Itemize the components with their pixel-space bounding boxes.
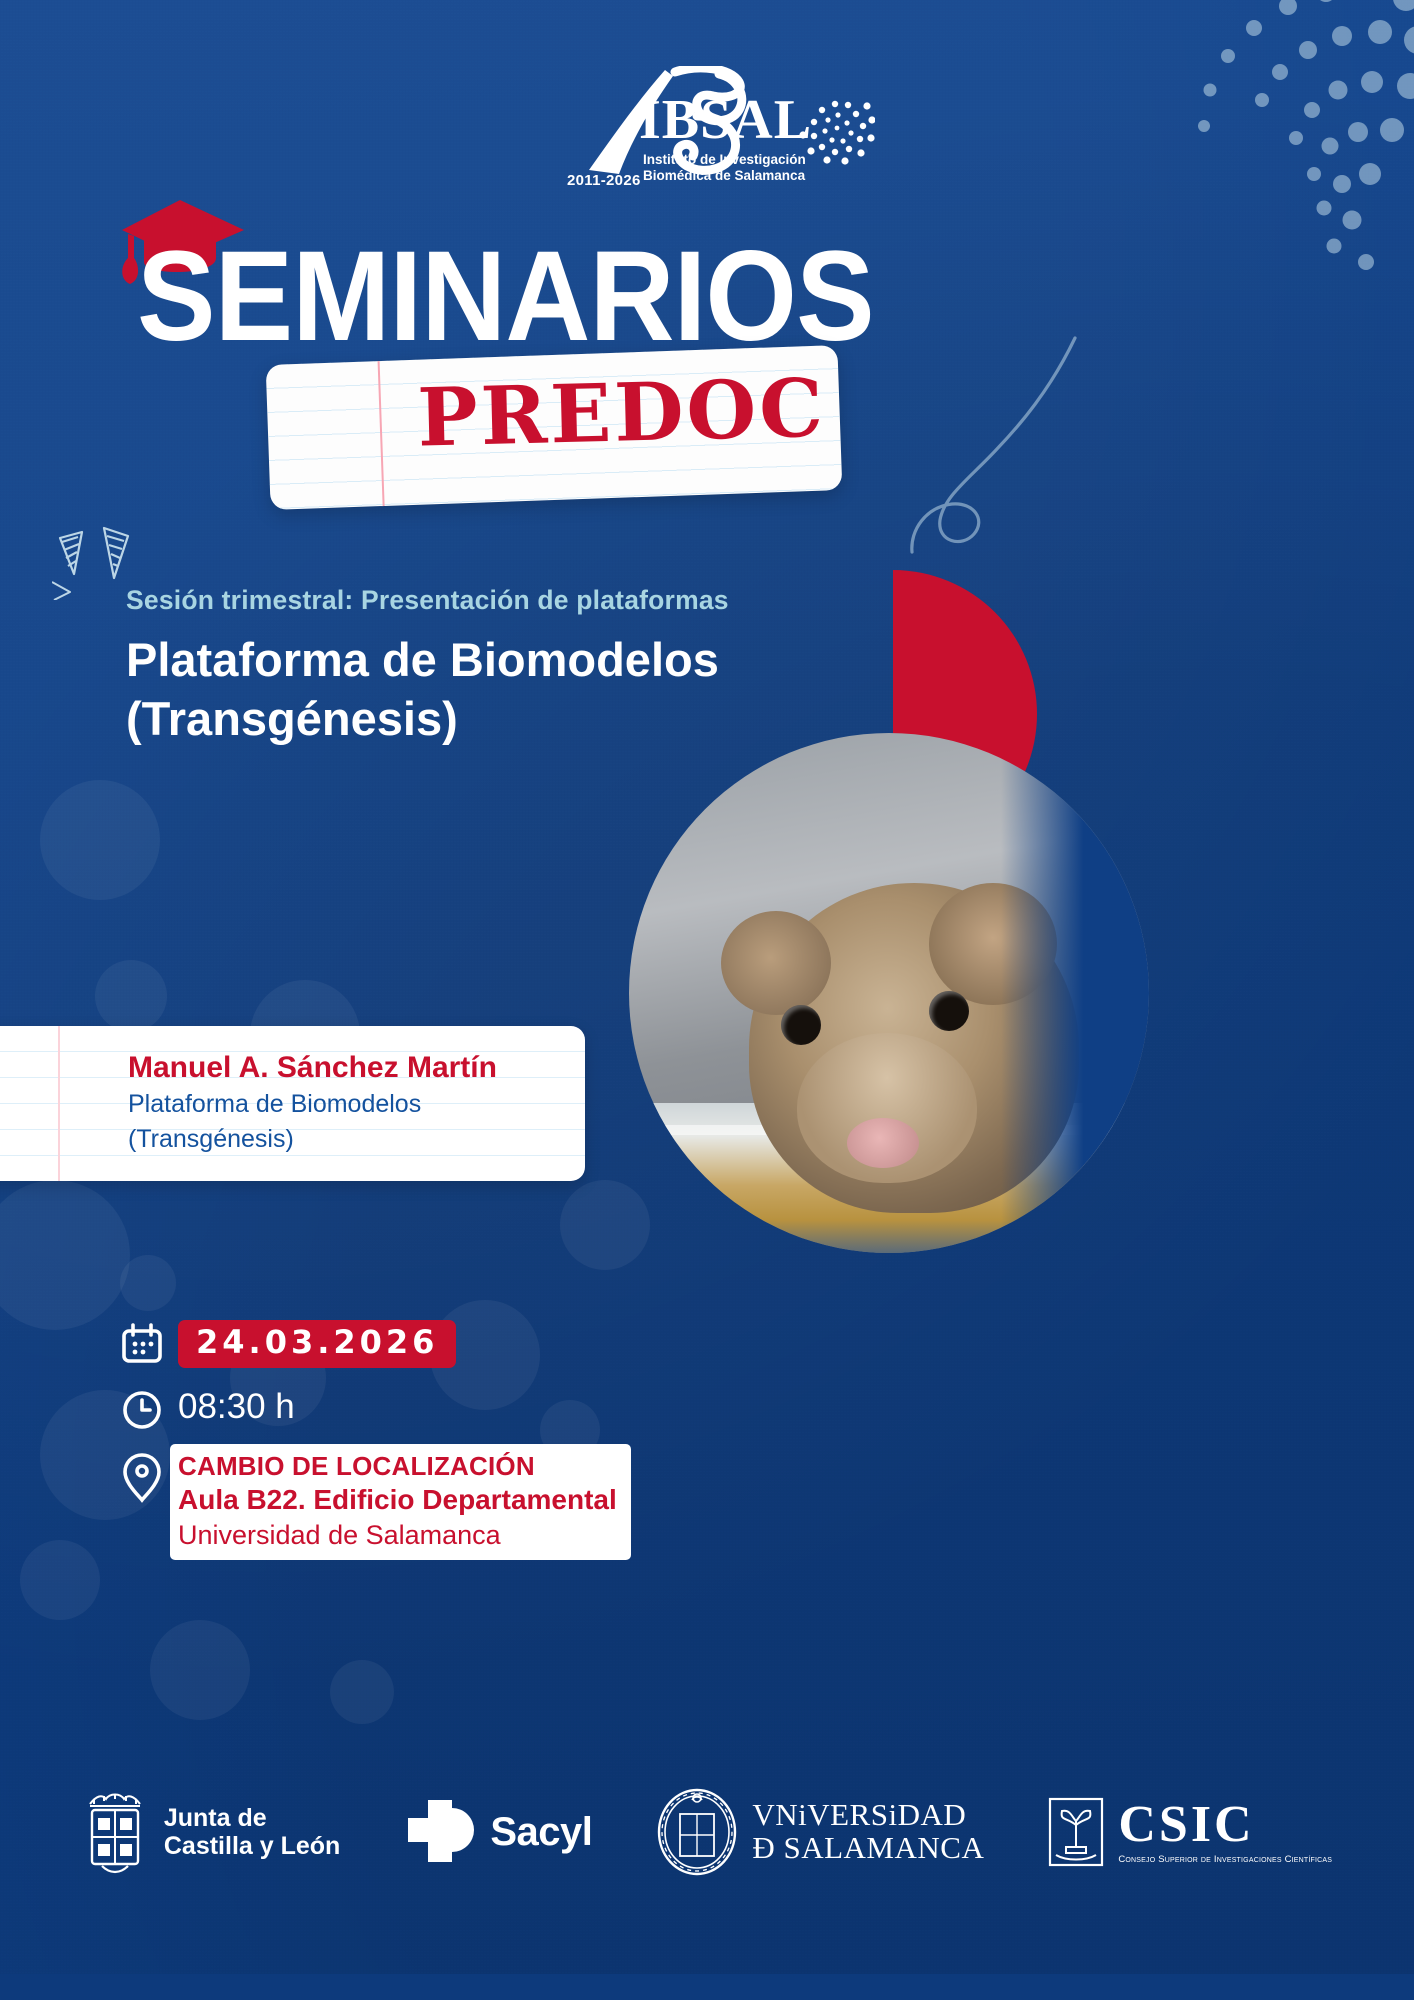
predoc-badge: PREDOC <box>417 368 827 458</box>
anniversary-years: 2011-2026 <box>567 172 641 189</box>
ibsal-logo: 2011-2026 IBSAL Instituto de Investigaci… <box>0 66 1414 206</box>
bokeh-circle <box>120 1255 176 1311</box>
clock-icon <box>120 1388 164 1432</box>
session-title-line1: Plataforma de Biomodelos <box>126 630 886 689</box>
map-pin-icon <box>120 1452 164 1504</box>
location-block: CAMBIO DE LOCALIZACIÓN Aula B22. Edifici… <box>178 1450 617 1554</box>
location-notice: CAMBIO DE LOCALIZACIÓN <box>178 1450 617 1483</box>
page-title: SEMINARIOS <box>137 238 1195 356</box>
event-details: 24.03.2026 08:30 h CAMBIO DE <box>120 1320 820 1572</box>
location-venue: Aula B22. Edificio Departamental <box>178 1482 617 1518</box>
sacyl-wordmark: Sacyl <box>490 1810 592 1855</box>
usal-seal-icon <box>654 1786 740 1878</box>
usal-line1: VNiVERSiDAD <box>752 1799 984 1832</box>
location-row: CAMBIO DE LOCALIZACIÓN Aula B22. Edifici… <box>120 1450 820 1554</box>
csic-crest-icon <box>1046 1795 1106 1869</box>
session-title: Plataforma de Biomodelos (Transgénesis) <box>126 630 886 748</box>
speaker-affiliation-line1: Plataforma de Biomodelos <box>128 1088 571 1121</box>
universidad-salamanca-logo: VNiVERSiDAD Ð SALAMANCA <box>654 1786 984 1878</box>
bottom-bar <box>0 1974 1414 2000</box>
csic-logo: CSIC Consejo Superior de Investigaciones… <box>1046 1795 1332 1869</box>
ibsal-subtitle-line1: Instituto de Investigación <box>643 152 806 168</box>
bokeh-circle <box>95 960 167 1032</box>
footer-logos: Junta de Castilla y León Sacyl <box>0 1772 1414 1892</box>
predoc-notepad-card: PREDOC <box>266 345 843 510</box>
sacyl-logo: Sacyl <box>402 1796 592 1868</box>
castilla-leon-crest-icon <box>82 1786 152 1878</box>
jcyl-line2: Castilla y León <box>164 1832 340 1860</box>
speaker-card: Manuel A. Sánchez Martín Plataforma de B… <box>0 1026 585 1181</box>
csic-wordmark: CSIC <box>1118 1799 1332 1851</box>
bokeh-circle <box>330 1660 394 1724</box>
event-time: 08:30 h <box>178 1386 295 1427</box>
event-date: 24.03.2026 <box>178 1320 456 1368</box>
calendar-icon <box>120 1322 164 1366</box>
curl-line-decoration <box>900 330 1090 560</box>
bokeh-circle <box>20 1540 100 1620</box>
ibsal-wordmark: IBSAL <box>639 92 812 148</box>
poster-canvas: 2011-2026 IBSAL Instituto de Investigaci… <box>0 0 1414 2000</box>
date-row: 24.03.2026 <box>120 1320 820 1368</box>
junta-castilla-leon-logo: Junta de Castilla y León <box>82 1786 340 1878</box>
speaker-card-margin-line <box>58 1026 60 1181</box>
bokeh-circle <box>40 780 160 900</box>
time-row: 08:30 h <box>120 1386 820 1432</box>
speaker-affiliation-line2: (Transgénesis) <box>128 1123 571 1156</box>
ibsal-subtitle-line2: Biomédica de Salamanca <box>643 168 806 184</box>
bokeh-circle <box>0 1180 130 1330</box>
bokeh-circle <box>150 1620 250 1720</box>
location-institution: Universidad de Salamanca <box>178 1518 617 1553</box>
sacyl-cross-icon <box>402 1796 478 1868</box>
usal-line2: Ð SALAMANCA <box>752 1832 984 1865</box>
jcyl-line1: Junta de <box>164 1804 340 1832</box>
csic-subtitle: Consejo Superior de Investigaciones Cien… <box>1118 1854 1332 1865</box>
laboratory-mouse-photo <box>629 733 1149 1253</box>
ibsal-spiral-dots-icon <box>799 90 875 166</box>
speaker-name: Manuel A. Sánchez Martín <box>128 1050 571 1086</box>
session-kicker: Sesión trimestral: Presentación de plata… <box>126 585 729 616</box>
